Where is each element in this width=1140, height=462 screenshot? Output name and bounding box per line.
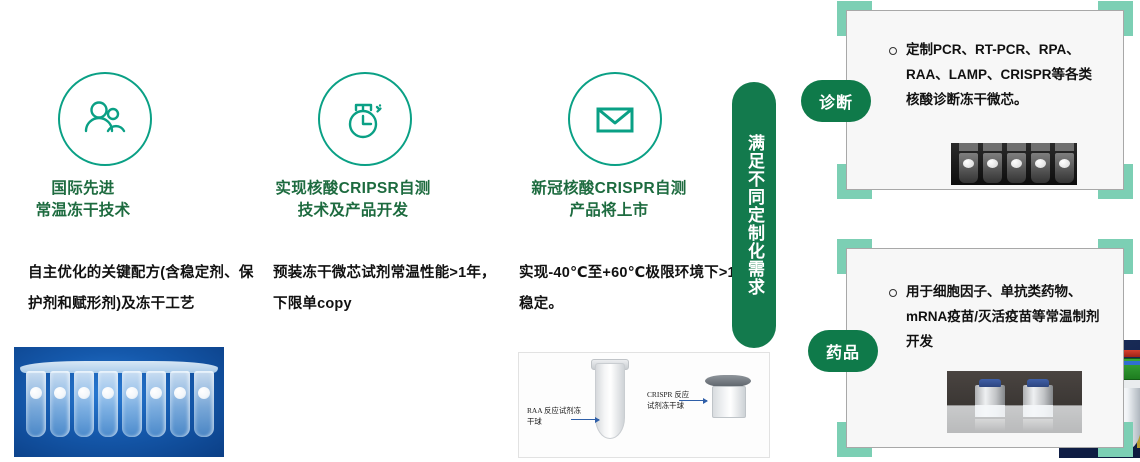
column-body-text: 预装冻干微芯试剂常温性能>1年，下限单copy [273,258,508,320]
badge-pharmaceuticals[interactable]: 药品 [808,330,878,372]
bullet-dot-icon [889,289,897,297]
vertical-pill-label: 满足不同定制化需求 [741,134,767,296]
vaccine-vials-photo [947,371,1082,433]
envelope-icon [568,72,662,166]
corner-bracket-top-right-icon [1098,239,1133,274]
column-heading-line2: 产品将上市 [484,200,734,222]
column-heading: 国际先进 常温冻干技术 [0,178,208,222]
column-heading-line2: 常温冻干技术 [0,200,208,222]
column-heading-line2: 技术及产品开发 [228,200,478,222]
column-heading: 实现核酸CRIPSR自测 技术及产品开发 [228,178,478,222]
stopwatch-icon [318,72,412,166]
feature-column-covid-self-test: 新冠核酸CRISPR自测 产品将上市 实现-40℃至+60℃极限环境下>1周稳定… [498,0,748,462]
column-heading-line1: 国际先进 [0,178,208,200]
bullet-dot-icon [889,47,897,55]
corner-bracket-top-right-icon [1098,1,1133,36]
customization-needs-pill: 满足不同定制化需求 [732,82,776,348]
column-heading-line1: 实现核酸CRIPSR自测 [228,178,478,200]
panel-bullet-text: 用于细胞因子、单抗类药物、mRNA疫苗/灭活疫苗等常温制剂开发 [906,279,1101,354]
diagnostics-panel: 定制PCR、RT-PCR、RPA、RAA、LAMP、CRISPR等各类核酸诊断冻… [846,10,1124,190]
panel-bullet-text: 定制PCR、RT-PCR、RPA、RAA、LAMP、CRISPR等各类核酸诊断冻… [906,37,1101,112]
corner-bracket-bottom-left-icon [837,422,872,457]
corner-bracket-top-left-icon [837,1,872,36]
column-heading: 新冠核酸CRISPR自测 产品将上市 [484,178,734,222]
two-people-icon [58,72,152,166]
panel-bullet-item: 用于细胞因子、单抗类药物、mRNA疫苗/灭活疫苗等常温制剂开发 [889,279,1101,354]
column-heading-line1: 新冠核酸CRISPR自测 [484,178,734,200]
corner-bracket-top-left-icon [837,239,872,274]
pcr-tube-strip-photo [14,347,224,457]
feature-column-international-lyophilization: 国际先进 常温冻干技术 自主优化的关键配方(含稳定剂、保护剂和赋形剂)及冻干工艺 [0,0,250,462]
corner-bracket-bottom-right-icon [1098,164,1133,199]
corner-bracket-bottom-left-icon [837,164,872,199]
column-body-text: 实现-40℃至+60℃极限环境下>1周稳定。 [519,258,754,320]
panel-bullet-item: 定制PCR、RT-PCR、RPA、RAA、LAMP、CRISPR等各类核酸诊断冻… [889,37,1101,112]
badge-diagnostics[interactable]: 诊断 [801,80,871,122]
diagnostic-tubes-photo [951,143,1077,185]
column-body-text: 自主优化的关键配方(含稳定剂、保护剂和赋形剂)及冻干工艺 [28,258,263,320]
pharmaceuticals-panel: 用于细胞因子、单抗类药物、mRNA疫苗/灭活疫苗等常温制剂开发 [846,248,1124,448]
feature-column-crispr-self-test: 实现核酸CRIPSR自测 技术及产品开发 预装冻干微芯试剂常温性能>1年，下限单… [250,0,500,462]
